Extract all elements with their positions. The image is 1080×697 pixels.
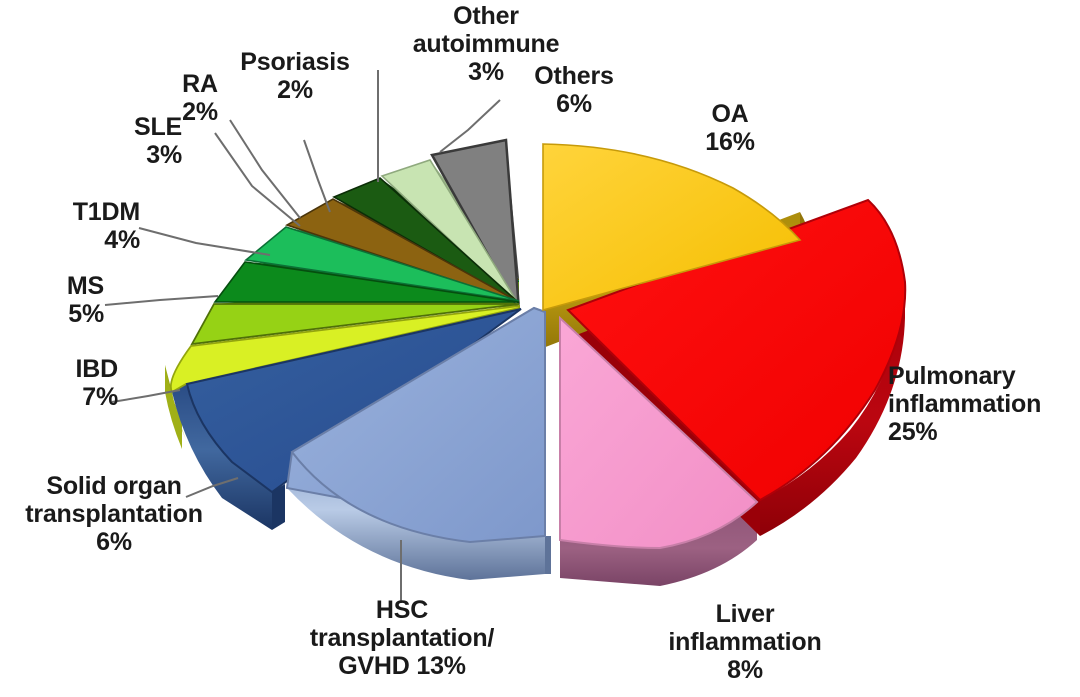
label-sle: SLE 3% — [0, 113, 182, 169]
leader-line-t1dm — [139, 228, 270, 255]
label-others: Others 6% — [506, 62, 642, 118]
label-oa: OA 16% — [640, 100, 820, 156]
side-wall-hsc-cap — [545, 536, 551, 574]
pie-chart-figure: OA 16% Pulmonary inflammation 25% Liver … — [0, 0, 1080, 697]
label-solid-organ-transplantation: Solid organ transplantation 6% — [4, 472, 224, 556]
label-ibd: IBD 7% — [0, 355, 118, 411]
label-pulmonary-inflammation: Pulmonary inflammation 25% — [888, 362, 1078, 446]
leader-line-sle-b — [215, 133, 300, 226]
label-liver-inflammation: Liver inflammation 8% — [610, 600, 880, 684]
leader-line-ms — [105, 296, 218, 305]
label-ms: MS 5% — [0, 272, 104, 328]
label-hsc-transplantation: HSC transplantation/ GVHD 13% — [262, 596, 542, 680]
leader-line-psoriasis — [304, 140, 330, 212]
label-t1dm: T1DM 4% — [0, 198, 140, 254]
label-psoriasis: Psoriasis 2% — [220, 48, 370, 104]
